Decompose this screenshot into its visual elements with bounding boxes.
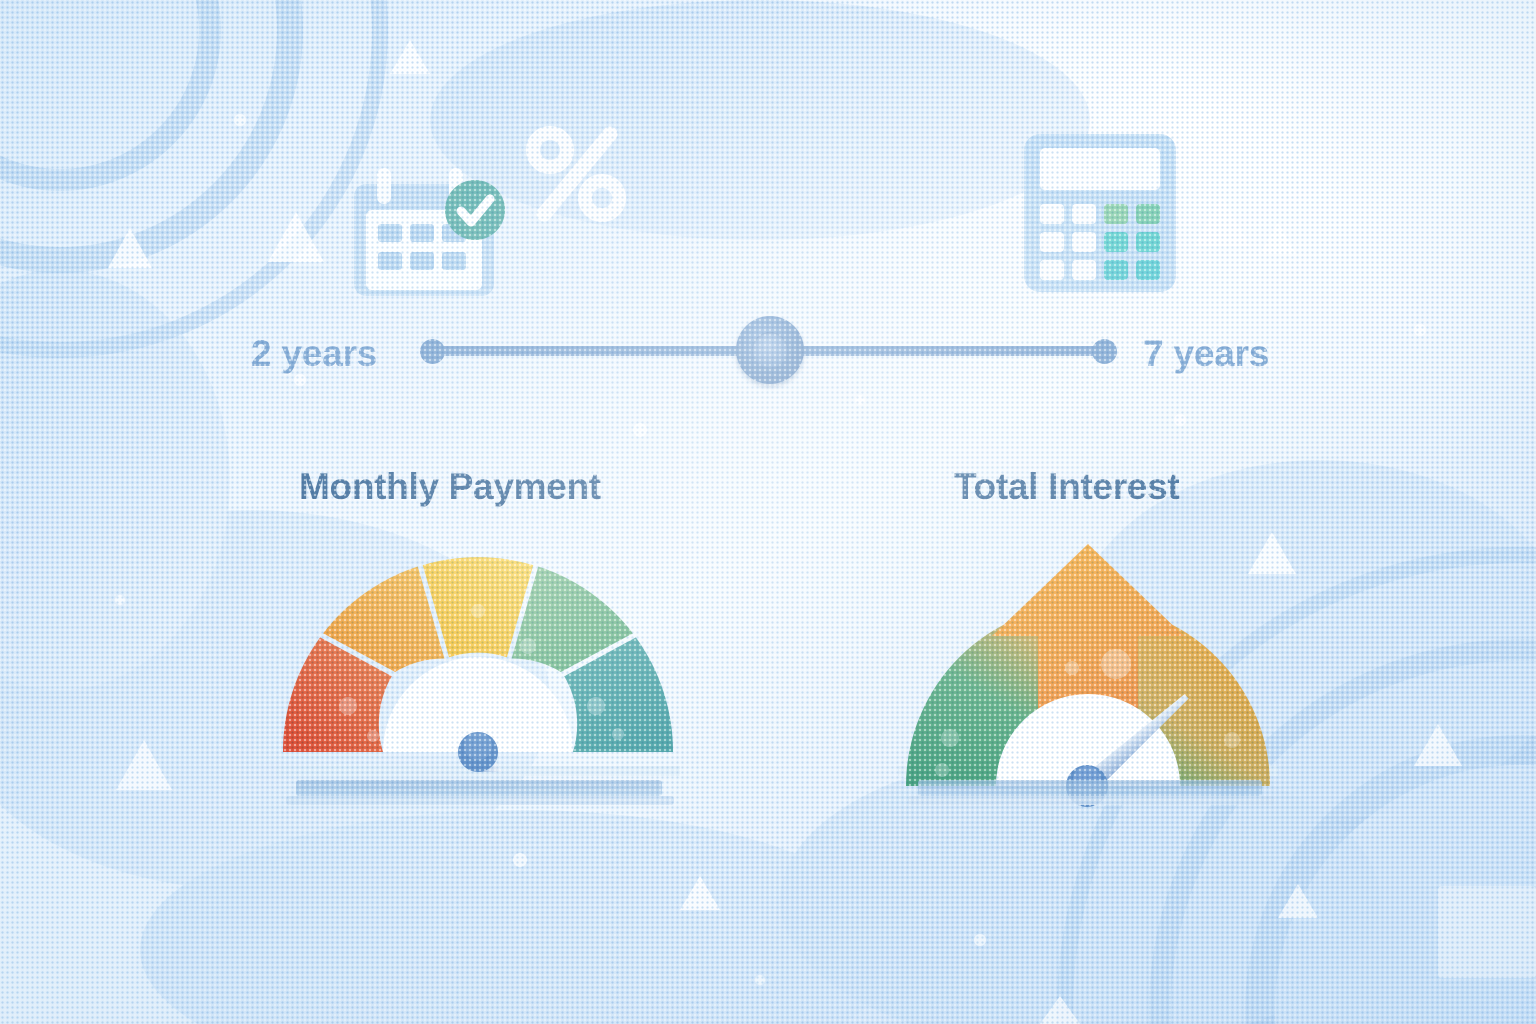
illustration-canvas: 2 years 7 years Monthly Payment Total In… (0, 0, 1536, 1024)
vignette-overlay (0, 0, 1536, 1024)
